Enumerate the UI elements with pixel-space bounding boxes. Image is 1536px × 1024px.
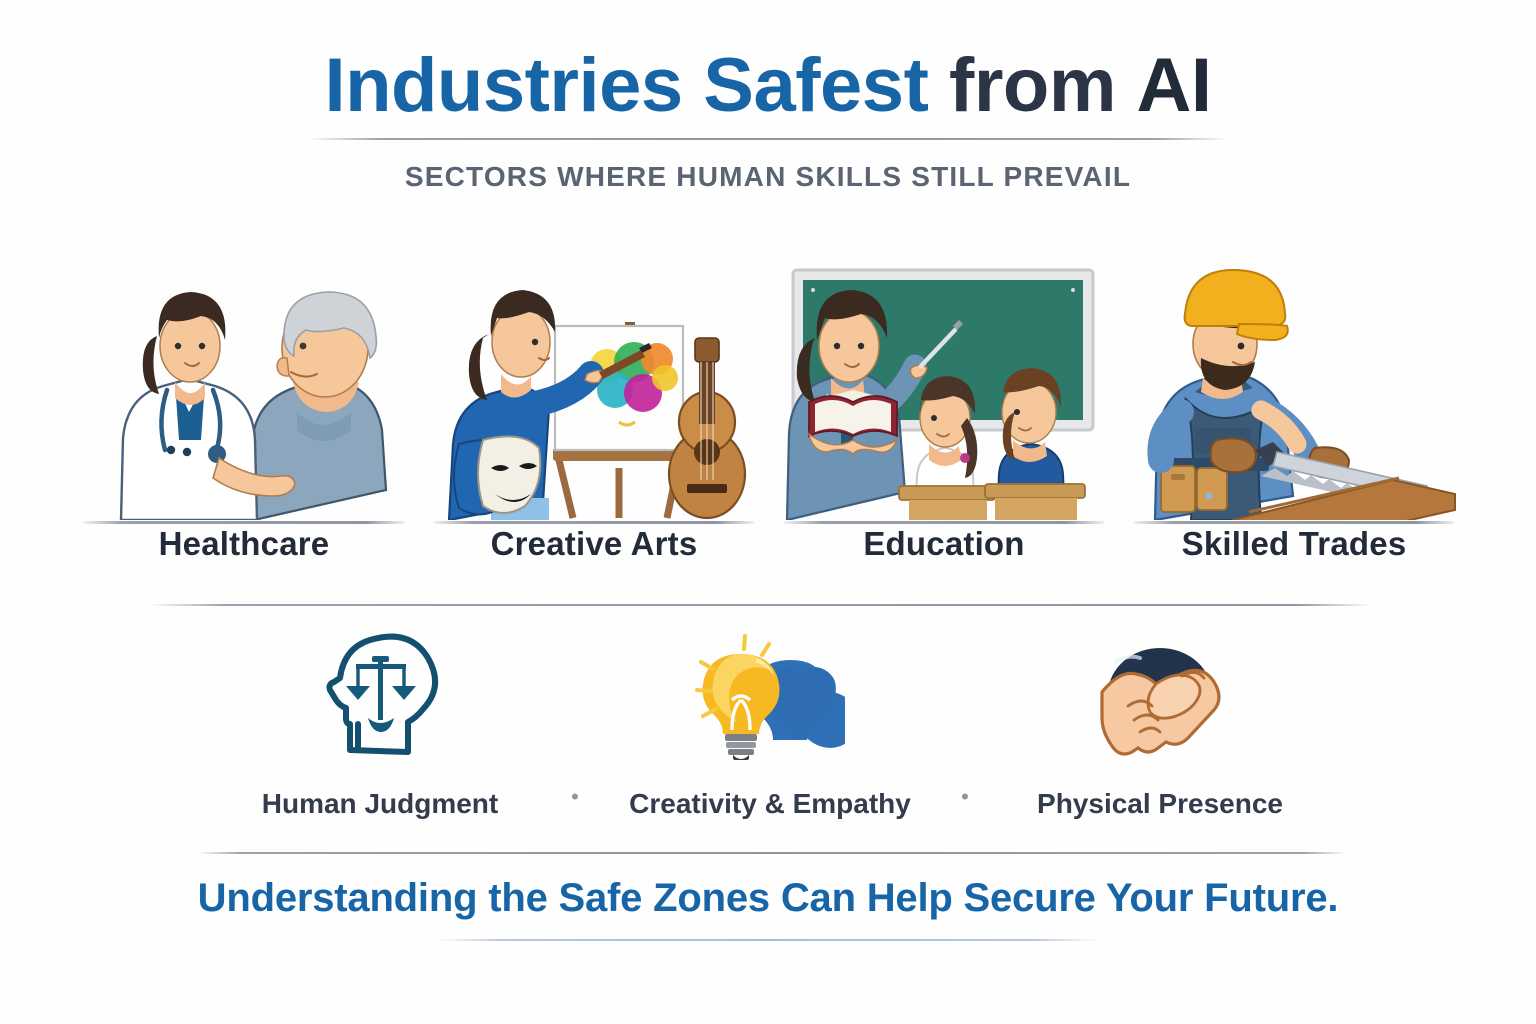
title-secondary: from (949, 43, 1116, 128)
industry-panels (78, 252, 1460, 520)
doctor-with-elderly-patient-illustration (78, 262, 410, 520)
label-cell-education: Education (778, 525, 1110, 563)
lightbulb-heart-icon (620, 626, 920, 766)
title-ai: AI (1137, 43, 1212, 128)
header: Industries Safest from AI SECTORS WHERE … (0, 0, 1536, 193)
page-title: Industries Safest from AI (0, 46, 1536, 125)
teacher-at-chalkboard-with-students-illustration (778, 262, 1110, 520)
page-subtitle: SECTORS WHERE HUMAN SKILLS STILL PREVAIL (0, 161, 1536, 193)
trait-human-judgment[interactable]: Human Judgment (230, 626, 530, 820)
trait-physical-presence[interactable]: Physical Presence (1010, 626, 1310, 820)
trait-label: Physical Presence (1010, 788, 1310, 820)
section-divider-lower (196, 852, 1348, 854)
trait-label: Human Judgment (230, 788, 530, 820)
head-with-scales-icon (230, 626, 530, 766)
panel-creative-arts[interactable] (428, 252, 760, 520)
label-cell-healthcare: Healthcare (78, 525, 410, 563)
footer-tagline: Understanding the Safe Zones Can Help Se… (0, 876, 1536, 921)
title-primary: Industries Safest (324, 43, 928, 128)
trait-label: Creativity & Empathy (620, 788, 920, 820)
panel-baseline (1134, 521, 1454, 524)
painter-at-easel-with-guitar-and-masks-illustration (428, 262, 760, 520)
category-label: Education (778, 525, 1110, 563)
panel-skilled-trades[interactable] (1128, 252, 1460, 520)
traits-row: Human Judgment (230, 626, 1310, 820)
category-label: Skilled Trades (1128, 525, 1460, 563)
panel-healthcare[interactable] (78, 252, 410, 520)
category-label: Creative Arts (428, 525, 760, 563)
label-cell-skilled-trades: Skilled Trades (1128, 525, 1460, 563)
panel-baseline (434, 521, 754, 524)
title-divider (308, 138, 1228, 140)
construction-worker-sawing-wood-illustration (1128, 262, 1460, 520)
panel-baseline (84, 521, 404, 524)
section-divider-upper (152, 604, 1368, 606)
trait-creativity-empathy[interactable]: Creativity & Empathy (620, 626, 920, 820)
category-label: Healthcare (78, 525, 410, 563)
panel-baseline (784, 521, 1104, 524)
handshake-icon (1010, 626, 1310, 766)
category-labels: Healthcare Creative Arts Education Skill… (78, 525, 1460, 563)
panel-education[interactable] (778, 252, 1110, 520)
label-cell-creative-arts: Creative Arts (428, 525, 760, 563)
footer: Understanding the Safe Zones Can Help Se… (0, 876, 1536, 941)
footer-divider (438, 939, 1098, 941)
infographic-poster: Industries Safest from AI SECTORS WHERE … (0, 0, 1536, 1024)
